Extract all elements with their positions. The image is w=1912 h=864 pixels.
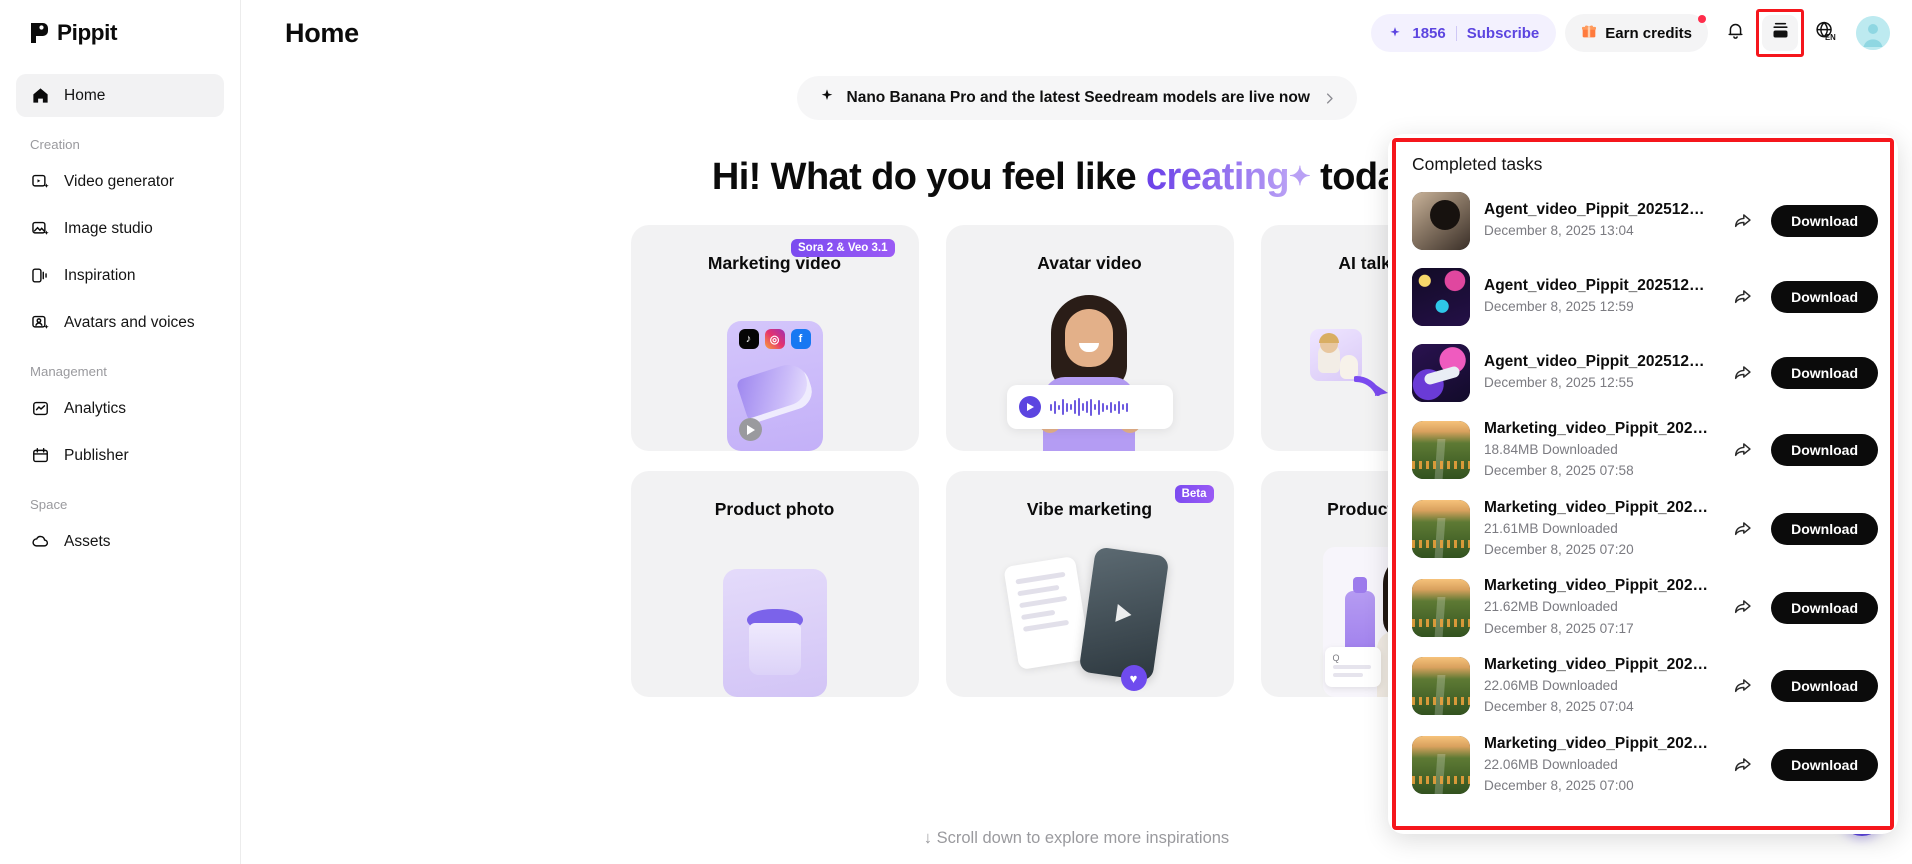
divider xyxy=(1456,26,1457,41)
main-area: Home 1856 Subscribe xyxy=(241,0,1912,864)
card-product-photo[interactable]: Product photo xyxy=(631,471,919,697)
task-filename: Agent_video_Pippit_2025120807... xyxy=(1484,353,1713,371)
tasks-tray-icon xyxy=(1770,20,1791,46)
avatars-voices-icon xyxy=(30,312,51,333)
sidebar-item-avatars-and-voices[interactable]: Avatars and voices xyxy=(16,301,224,344)
completed-tasks-title: Completed tasks xyxy=(1388,134,1898,183)
assets-cloud-icon xyxy=(30,531,51,552)
share-arrow-icon[interactable] xyxy=(1727,435,1757,465)
share-arrow-icon[interactable] xyxy=(1727,593,1757,623)
tiktok-icon: ♪ xyxy=(739,329,759,349)
avatar-video-art xyxy=(946,289,1234,451)
card-badge: Sora 2 & Veo 3.1 xyxy=(791,239,895,257)
task-thumbnail xyxy=(1412,268,1470,326)
task-thumbnail xyxy=(1412,192,1470,250)
credits-pill[interactable]: 1856 Subscribe xyxy=(1371,14,1556,52)
sparkle-icon xyxy=(1388,26,1402,40)
task-row[interactable]: Agent_video_Pippit_2025120807... Decembe… xyxy=(1402,335,1888,411)
language-button[interactable]: EN xyxy=(1807,15,1843,51)
download-button[interactable]: Download xyxy=(1771,281,1878,313)
task-thumbnail xyxy=(1412,579,1470,637)
task-size: 18.84MB Downloaded xyxy=(1484,441,1713,459)
task-date: December 8, 2025 12:55 xyxy=(1484,374,1713,392)
sidebar-item-label: Assets xyxy=(64,533,111,551)
task-filename: Agent_video_Pippit_2025120807... xyxy=(1484,201,1713,219)
home-content: Nano Banana Pro and the latest Seedream … xyxy=(241,66,1912,864)
task-date: December 8, 2025 07:17 xyxy=(1484,620,1713,638)
task-filename: Marketing_video_Pippit_2025120... xyxy=(1484,735,1713,753)
play-icon xyxy=(1019,396,1041,418)
sidebar-item-label: Avatars and voices xyxy=(64,314,195,332)
task-date: December 8, 2025 07:00 xyxy=(1484,777,1713,795)
download-button[interactable]: Download xyxy=(1771,434,1878,466)
globe-icon: EN xyxy=(1813,20,1837,47)
task-date: December 8, 2025 07:58 xyxy=(1484,462,1713,480)
task-thumbnail xyxy=(1412,736,1470,794)
sidebar-item-label: Inspiration xyxy=(64,267,136,285)
headline-sparkle: ✦ xyxy=(1289,161,1310,191)
task-meta: Marketing_video_Pippit_2025120... 22.06M… xyxy=(1484,735,1713,796)
sidebar-section-space: Space xyxy=(16,497,224,512)
task-size: 22.06MB Downloaded xyxy=(1484,756,1713,774)
product-photo-art xyxy=(631,535,919,697)
task-meta: Marketing_video_Pippit_2025120... 22.06M… xyxy=(1484,656,1713,717)
task-meta: Marketing_video_Pippit_2025120... 21.62M… xyxy=(1484,577,1713,638)
task-filename: Marketing_video_Pippit_2025120... xyxy=(1484,577,1713,595)
analytics-icon xyxy=(30,398,51,419)
share-arrow-icon[interactable] xyxy=(1727,206,1757,236)
page-title: Home xyxy=(285,18,359,49)
earn-credits-button[interactable]: Earn credits xyxy=(1565,14,1708,52)
brand-logo[interactable]: Pippit xyxy=(16,0,224,66)
sidebar-section-creation: Creation xyxy=(16,137,224,152)
sidebar-item-home[interactable]: Home xyxy=(16,74,224,117)
share-arrow-icon[interactable] xyxy=(1727,514,1757,544)
share-arrow-icon[interactable] xyxy=(1727,282,1757,312)
image-studio-icon xyxy=(30,218,51,239)
task-size: 21.61MB Downloaded xyxy=(1484,520,1713,538)
sidebar-item-inspiration[interactable]: Inspiration xyxy=(16,254,224,297)
task-row[interactable]: Marketing_video_Pippit_2025120... 18.84M… xyxy=(1402,411,1888,490)
task-thumbnail xyxy=(1412,500,1470,558)
headline-highlight: creating xyxy=(1146,156,1289,198)
user-avatar[interactable] xyxy=(1856,16,1890,50)
sidebar: Pippit Home Creation Video generator xyxy=(0,0,241,864)
announcement-text: Nano Banana Pro and the latest Seedream … xyxy=(847,89,1310,107)
card-avatar-video[interactable]: Avatar video xyxy=(946,225,1234,451)
facebook-icon: f xyxy=(791,329,811,349)
earn-credits-label: Earn credits xyxy=(1605,25,1692,42)
sidebar-item-label: Video generator xyxy=(64,173,174,191)
heart-icon: ♥ xyxy=(1121,665,1147,691)
publisher-icon xyxy=(30,445,51,466)
notification-dot xyxy=(1698,15,1706,23)
task-size: 22.06MB Downloaded xyxy=(1484,677,1713,695)
task-thumbnail xyxy=(1412,421,1470,479)
top-bar: Home 1856 Subscribe xyxy=(241,0,1912,66)
chevron-right-icon xyxy=(1322,91,1337,106)
share-arrow-icon[interactable] xyxy=(1727,671,1757,701)
task-filename: Marketing_video_Pippit_2025120... xyxy=(1484,656,1713,674)
share-arrow-icon[interactable] xyxy=(1727,358,1757,388)
vibe-marketing-art: ♥ xyxy=(946,535,1234,697)
task-size: 21.62MB Downloaded xyxy=(1484,598,1713,616)
announcement-banner[interactable]: Nano Banana Pro and the latest Seedream … xyxy=(797,76,1357,120)
task-meta: Agent_video_Pippit_2025120807... Decembe… xyxy=(1484,277,1713,316)
headline-prefix: Hi! What do you feel like xyxy=(712,156,1146,198)
play-icon xyxy=(739,418,762,441)
card-badge: Beta xyxy=(1175,485,1214,503)
sidebar-item-analytics[interactable]: Analytics xyxy=(16,387,224,430)
sidebar-item-video-generator[interactable]: Video generator xyxy=(16,160,224,203)
sidebar-item-label: Publisher xyxy=(64,447,129,465)
sidebar-item-assets[interactable]: Assets xyxy=(16,520,224,563)
completed-tasks-panel: Completed tasks Agent_video_Pippit_20251… xyxy=(1388,134,1898,834)
subscribe-link[interactable]: Subscribe xyxy=(1467,25,1540,42)
marketing-video-art: ♪ ◎ f xyxy=(631,289,919,451)
bell-icon xyxy=(1725,20,1746,46)
task-filename: Marketing_video_Pippit_2025120... xyxy=(1484,499,1713,517)
pippit-logo-icon xyxy=(29,21,50,45)
task-row[interactable]: Marketing_video_Pippit_2025120... 21.61M… xyxy=(1402,490,1888,569)
task-row[interactable]: Marketing_video_Pippit_2025120... 21.62M… xyxy=(1402,568,1888,647)
task-date: December 8, 2025 07:20 xyxy=(1484,541,1713,559)
task-date: December 8, 2025 13:04 xyxy=(1484,222,1713,240)
instagram-icon: ◎ xyxy=(765,329,785,349)
notification-bell-button[interactable] xyxy=(1717,15,1753,51)
task-meta: Marketing_video_Pippit_2025120... 18.84M… xyxy=(1484,420,1713,481)
sidebar-item-label: Analytics xyxy=(64,400,126,418)
download-button[interactable]: Download xyxy=(1771,513,1878,545)
task-thumbnail xyxy=(1412,657,1470,715)
inspiration-icon xyxy=(30,265,51,286)
download-button[interactable]: Download xyxy=(1771,592,1878,624)
tasks-tray-highlight xyxy=(1762,15,1798,51)
task-meta: Marketing_video_Pippit_2025120... 21.61M… xyxy=(1484,499,1713,560)
download-button[interactable]: Download xyxy=(1771,205,1878,237)
sidebar-top-group: Home xyxy=(16,74,224,117)
task-meta: Agent_video_Pippit_2025120807... Decembe… xyxy=(1484,353,1713,392)
task-filename: Marketing_video_Pippit_2025120... xyxy=(1484,420,1713,438)
announcement-row: Nano Banana Pro and the latest Seedream … xyxy=(241,76,1912,120)
download-button[interactable]: Download xyxy=(1771,749,1878,781)
play-icon xyxy=(1115,604,1132,624)
task-row[interactable]: Agent_video_Pippit_2025120807... Decembe… xyxy=(1402,183,1888,259)
waveform-icon xyxy=(1050,397,1128,417)
sidebar-item-label: Home xyxy=(64,87,105,105)
top-bar-actions: 1856 Subscribe Earn credits xyxy=(1371,14,1890,52)
card-title: Avatar video xyxy=(946,253,1234,274)
task-date: December 8, 2025 12:59 xyxy=(1484,298,1713,316)
task-date: December 8, 2025 07:04 xyxy=(1484,698,1713,716)
credits-amount: 1856 xyxy=(1412,25,1445,42)
tasks-tray-button[interactable] xyxy=(1762,15,1798,51)
download-button[interactable]: Download xyxy=(1771,357,1878,389)
task-filename: Agent_video_Pippit_2025120807... xyxy=(1484,277,1713,295)
card-marketing-video[interactable]: Sora 2 & Veo 3.1 Marketing video ♪ ◎ f xyxy=(631,225,919,451)
sidebar-section-management: Management xyxy=(16,364,224,379)
sidebar-item-image-studio[interactable]: Image studio xyxy=(16,207,224,250)
task-row[interactable]: Agent_video_Pippit_2025120807... Decembe… xyxy=(1402,259,1888,335)
download-button[interactable]: Download xyxy=(1771,670,1878,702)
gift-icon xyxy=(1581,23,1597,44)
task-row[interactable]: Marketing_video_Pippit_2025120... 22.06M… xyxy=(1402,726,1888,805)
card-vibe-marketing[interactable]: Beta Vibe marketing ♥ xyxy=(946,471,1234,697)
sparkle-icon xyxy=(819,88,835,109)
task-meta: Agent_video_Pippit_2025120807... Decembe… xyxy=(1484,201,1713,240)
home-icon xyxy=(30,85,51,106)
share-arrow-icon[interactable] xyxy=(1727,750,1757,780)
app-root: Pippit Home Creation Video generator xyxy=(0,0,1912,864)
task-row[interactable]: Marketing_video_Pippit_2025120... 22.06M… xyxy=(1402,647,1888,726)
video-generator-icon xyxy=(30,171,51,192)
sidebar-item-label: Image studio xyxy=(64,220,153,238)
sidebar-item-publisher[interactable]: Publisher xyxy=(16,434,224,477)
brand-name: Pippit xyxy=(57,20,117,46)
completed-tasks-list[interactable]: Agent_video_Pippit_2025120807... Decembe… xyxy=(1388,183,1898,829)
task-thumbnail xyxy=(1412,344,1470,402)
card-title: Product photo xyxy=(631,499,919,520)
svg-text:EN: EN xyxy=(1825,33,1836,42)
